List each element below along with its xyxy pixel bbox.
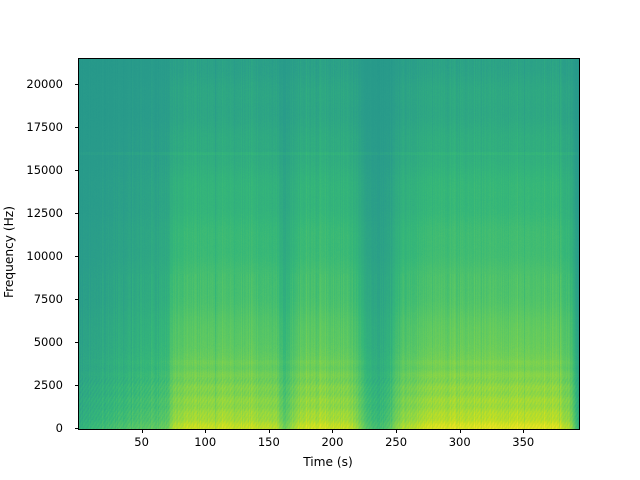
spectrogram-image: [79, 59, 579, 429]
x-tick-mark: [523, 429, 524, 433]
x-tick-mark: [396, 429, 397, 433]
x-tick-label: 300: [430, 435, 490, 449]
x-tick-label: 100: [175, 435, 235, 449]
spectrogram-canvas: [79, 59, 579, 429]
x-tick-mark: [142, 429, 143, 433]
y-tick-mark: [75, 342, 79, 343]
y-tick-mark: [75, 299, 79, 300]
x-tick-label: 150: [239, 435, 299, 449]
y-tick-mark: [75, 428, 79, 429]
x-axis-label: Time (s): [78, 455, 578, 469]
figure-title-clip: Mixed Channel Spectrogram: 10-Bryan Adam…: [0, 24, 640, 46]
y-tick-mark: [75, 170, 79, 171]
y-tick-mark: [75, 213, 79, 214]
y-tick-mark: [75, 127, 79, 128]
x-tick-mark: [269, 429, 270, 433]
spectrogram-figure: Mixed Channel Spectrogram: 10-Bryan Adam…: [0, 0, 640, 480]
x-tick-label: 350: [493, 435, 553, 449]
x-tick-mark: [332, 429, 333, 433]
x-tick-label: 50: [112, 435, 172, 449]
x-tick-mark: [460, 429, 461, 433]
y-axis-label: Frequency (Hz): [0, 67, 18, 437]
y-tick-mark: [75, 84, 79, 85]
x-tick-label: 200: [302, 435, 362, 449]
y-tick-mark: [75, 385, 79, 386]
x-tick-label: 250: [366, 435, 426, 449]
x-tick-mark: [205, 429, 206, 433]
plot-axes: [78, 58, 580, 430]
y-tick-mark: [75, 256, 79, 257]
